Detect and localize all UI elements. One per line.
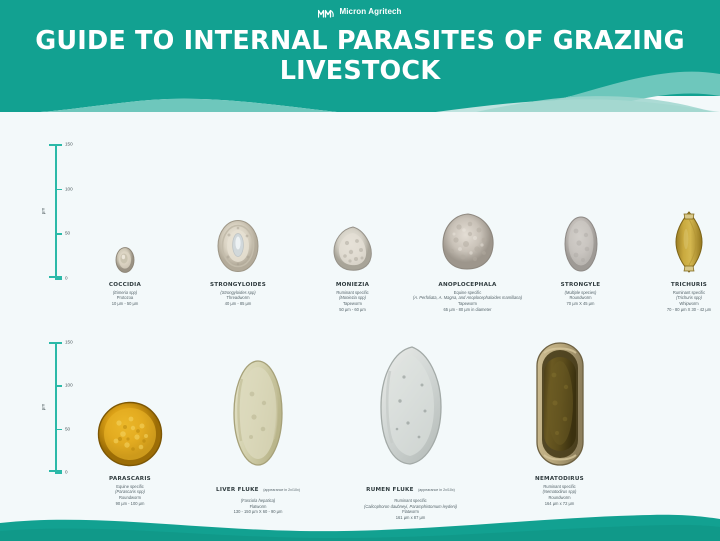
axis-line (55, 144, 57, 278)
footer-wave-decoration (0, 501, 720, 541)
specimen-size: 70 - 80 µm X 30 - 42 µm (630, 307, 720, 313)
specimen-parascaris[interactable]: PARASCARIS Equine specific (Parascaris s… (70, 330, 190, 506)
page-footer (0, 501, 720, 541)
rumen-fluke-egg-image (378, 345, 444, 472)
anoplocephala-egg-image (439, 211, 497, 278)
specimen-row-2: 150 100 50 0 µm (0, 330, 720, 530)
specimen-name: TRICHURIS (630, 282, 720, 290)
specimen-liver-fluke[interactable]: LIVER FLUKE (appearance in 2x/10x) (Fasc… (188, 330, 328, 515)
specimen-size: 50 µm - 60 µm (300, 307, 405, 313)
specimen-name: STRONGYLOIDES (178, 282, 298, 290)
specimen-note: (appearance in 2x/10x) (263, 488, 300, 492)
page-title: GUIDE TO INTERNAL PARASITES OF GRAZING L… (0, 26, 720, 86)
trichuris-egg-image (673, 211, 705, 278)
specimen-strongyloides[interactable]: STRONGYLOIDES (Strongyloides spp) Thread… (178, 132, 298, 307)
specimen-caption: ANOPLOCEPHALA Equine specific (A. Perfol… (400, 282, 535, 312)
specimen-name: RUMEN FLUKE (366, 487, 414, 493)
specimen-caption: TRICHURIS Ruminant specific (Trichuris s… (630, 282, 720, 312)
brand-lockup: Micron Agritech (0, 6, 720, 17)
specimen-strongyle[interactable]: STRONGYLE (Multiple species) Roundworm 7… (528, 132, 633, 307)
axis-unit-label: µm (41, 208, 46, 214)
specimen-size: 70 µm X 45 µm (528, 301, 633, 307)
specimen-name: ANOPLOCEPHALA (400, 282, 535, 290)
specimen-anoplocephala[interactable]: ANOPLOCEPHALA Equine specific (A. Perfol… (400, 132, 535, 312)
specimen-name: NEMATODIRUS (492, 476, 627, 484)
infographic-page: Micron Agritech GUIDE TO INTERNAL PARASI… (0, 0, 720, 541)
specimen-list-row-1: COCCIDIA (Eimeria spp) Protozoa 10 µm - … (60, 132, 714, 322)
specimen-row-1: 150 100 50 0 µm (0, 132, 720, 322)
specimen-coccidia[interactable]: COCCIDIA (Eimeria spp) Protozoa 10 µm - … (70, 132, 180, 307)
specimen-list-row-2: PARASCARIS Equine specific (Parascaris s… (60, 330, 714, 530)
specimen-name: STRONGYLE (528, 282, 633, 290)
specimen-size: 10 µm - 50 µm (70, 301, 180, 307)
specimen-title-line: RUMEN FLUKE (appearance in 2x/10x) (328, 476, 493, 498)
parascaris-egg-image (97, 401, 163, 472)
specimen-note: (appearance in 2x/10x) (418, 488, 455, 492)
axis-unit-label: µm (41, 404, 46, 410)
brand-name: Micron Agritech (339, 7, 401, 16)
specimen-rumen-fluke[interactable]: RUMEN FLUKE (appearance in 2x/10x) Rumin… (328, 330, 493, 521)
specimen-name: LIVER FLUKE (216, 487, 259, 493)
nematodirus-egg-image (535, 341, 585, 472)
liver-fluke-egg-image (232, 359, 284, 472)
strongyloides-egg-image (216, 219, 260, 278)
specimen-name: PARASCARIS (70, 476, 190, 484)
specimen-name: COCCIDIA (70, 282, 180, 290)
specimen-size: 40 µm - 85 µm (178, 301, 298, 307)
specimen-nematodirus[interactable]: NEMATODIRUS Ruminant specific (Nematodir… (492, 330, 627, 506)
specimen-caption: MONIEZIA Ruminant specific (Moniezia spp… (300, 282, 405, 312)
coccidia-egg-image (115, 247, 135, 278)
axis-line (55, 342, 57, 472)
page-header: Micron Agritech GUIDE TO INTERNAL PARASI… (0, 0, 720, 112)
specimen-name: MONIEZIA (300, 282, 405, 290)
specimen-moniezia[interactable]: MONIEZIA Ruminant specific (Moniezia spp… (300, 132, 405, 312)
specimen-caption: STRONGYLOIDES (Strongyloides spp) Thread… (178, 282, 298, 307)
specimen-size: 65 µm - 80 µm in diameter (400, 307, 535, 313)
strongyle-egg-image (563, 215, 599, 278)
specimen-caption: STRONGYLE (Multiple species) Roundworm 7… (528, 282, 633, 307)
specimen-title-line: LIVER FLUKE (appearance in 2x/10x) (188, 476, 328, 498)
micron-logo-icon (318, 6, 334, 17)
moniezia-egg-image (331, 225, 375, 278)
specimen-trichuris[interactable]: TRICHURIS Ruminant specific (Trichuris s… (630, 132, 720, 312)
specimen-caption: COCCIDIA (Eimeria spp) Protozoa 10 µm - … (70, 282, 180, 307)
